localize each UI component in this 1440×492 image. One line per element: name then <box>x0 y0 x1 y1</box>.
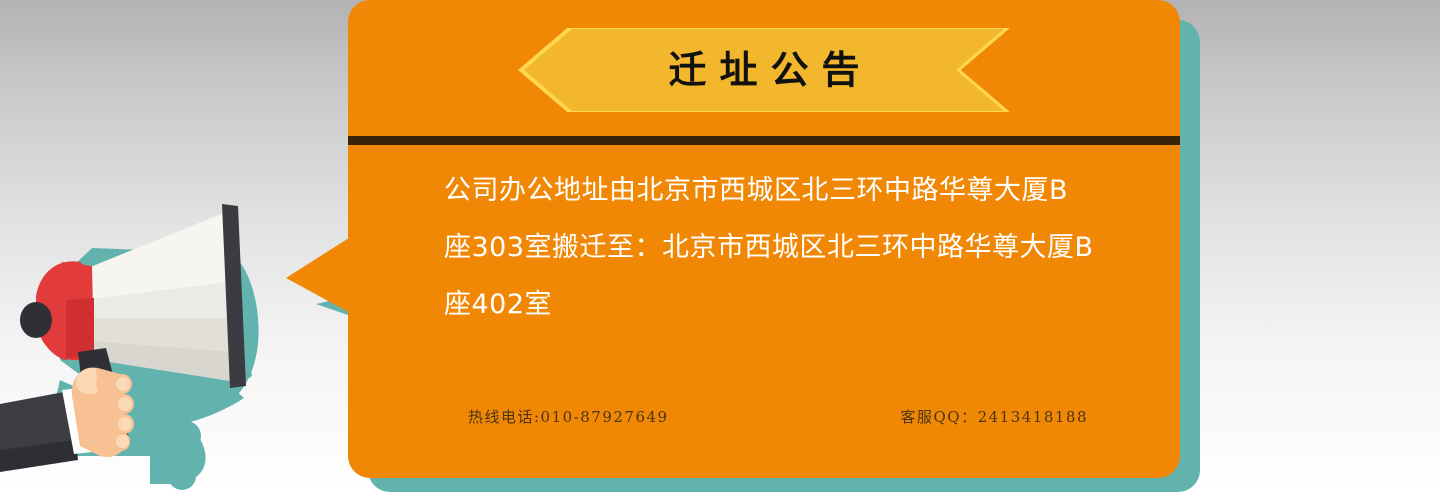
contact-footer: 热线电话:010-87927649 客服QQ：2413418188 <box>468 406 1088 427</box>
divider <box>348 136 1180 145</box>
hotline-text: 热线电话:010-87927649 <box>468 406 669 427</box>
qq-text: 客服QQ：2413418188 <box>900 406 1088 427</box>
megaphone-back <box>20 261 94 360</box>
announcement-banner: 迁址公告 公司办公地址由北京市西城区北三环中路华尊大厦B座303室搬迁至：北京市… <box>0 0 1440 492</box>
announcement-card: 迁址公告 公司办公地址由北京市西城区北三环中路华尊大厦B座303室搬迁至：北京市… <box>348 0 1180 478</box>
announcement-body-text: 公司办公地址由北京市西城区北三环中路华尊大厦B座303室搬迁至：北京市西城区北三… <box>444 162 1094 333</box>
speech-bubble-tail <box>286 236 352 314</box>
page-title: 迁址公告 <box>655 51 872 89</box>
title-banner: 迁址公告 <box>348 22 1180 118</box>
hand-grip <box>72 368 134 457</box>
